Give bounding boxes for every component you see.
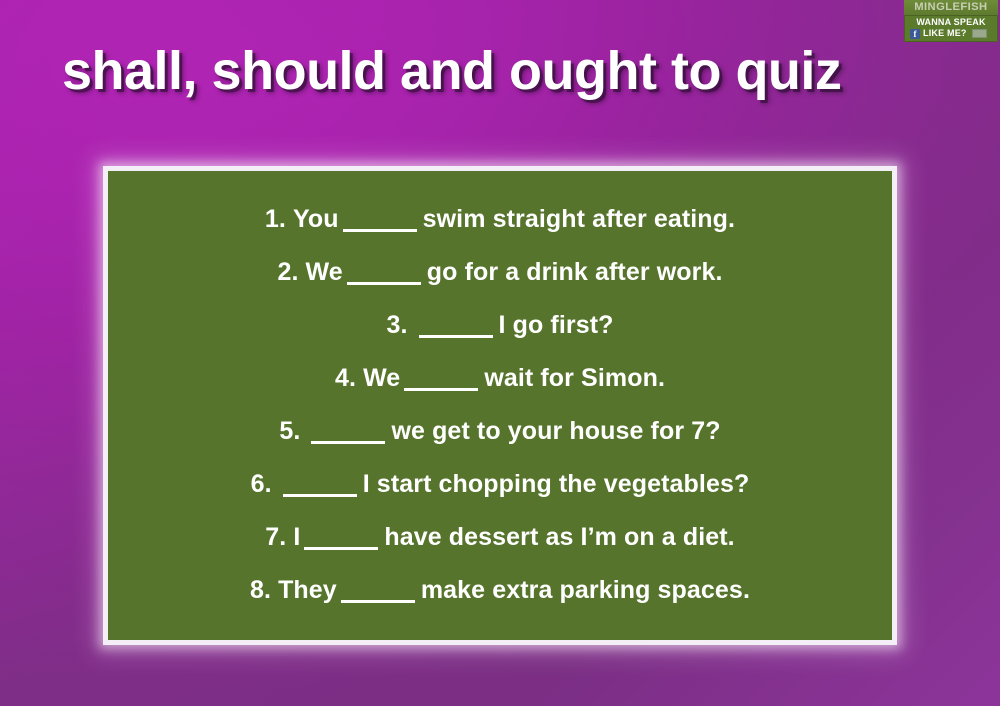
answer-blank[interactable] (341, 580, 415, 603)
quiz-panel: 1.Youswim straight after eating. 2.Wego … (103, 166, 897, 645)
answer-blank[interactable] (347, 262, 421, 285)
question-text-after: make extra parking spaces. (421, 576, 750, 604)
question-text-after: have dessert as I’m on a diet. (384, 523, 734, 551)
quiz-question-1: 1.Youswim straight after eating. (108, 193, 892, 246)
logo-cta-line2: LIKE ME? (923, 28, 967, 39)
question-text-before: We (363, 364, 400, 392)
quiz-question-8: 8.Theymake extra parking spaces. (108, 564, 892, 617)
question-text-after: swim straight after eating. (423, 205, 736, 233)
quiz-question-5: 5.we get to your house for 7? (108, 405, 892, 458)
question-text-after: wait for Simon. (484, 364, 665, 392)
question-number: 8. (250, 576, 271, 604)
question-number: 1. (265, 205, 286, 233)
question-number: 2. (277, 258, 298, 286)
answer-blank[interactable] (283, 474, 357, 497)
quiz-question-6: 6.I start chopping the vegetables? (108, 458, 892, 511)
question-number: 4. (335, 364, 356, 392)
question-number: 6. (251, 470, 272, 498)
page-title: shall, should and ought to quiz (62, 40, 841, 102)
slide-canvas: MINGLEFISH WANNA SPEAK f LIKE ME? shall,… (0, 0, 1000, 706)
logo-cta-box: WANNA SPEAK f LIKE ME? (904, 15, 998, 42)
question-text-before: We (306, 258, 343, 286)
answer-blank[interactable] (419, 315, 493, 338)
question-text-before: They (278, 576, 337, 604)
answer-blank[interactable] (311, 421, 385, 444)
logo-cta-line2-row: f LIKE ME? (907, 28, 995, 39)
question-text-after: I go first? (499, 311, 614, 339)
question-text-after: we get to your house for 7? (391, 417, 720, 445)
question-text-before: I (293, 523, 300, 551)
minglefish-watermark-logo: MINGLEFISH WANNA SPEAK f LIKE ME? (904, 0, 998, 42)
question-text-after: I start chopping the vegetables? (363, 470, 750, 498)
quiz-question-4: 4.Wewait for Simon. (108, 352, 892, 405)
question-number: 3. (386, 311, 407, 339)
logo-brand-bar: MINGLEFISH (904, 0, 998, 15)
facebook-icon[interactable]: f (910, 29, 920, 39)
logo-chip-icon (972, 29, 987, 38)
quiz-question-7: 7.Ihave dessert as I’m on a diet. (108, 511, 892, 564)
answer-blank[interactable] (343, 209, 417, 232)
logo-brand-text: MINGLEFISH (914, 2, 987, 13)
question-text-after: go for a drink after work. (427, 258, 723, 286)
answer-blank[interactable] (404, 368, 478, 391)
question-text-before: You (293, 205, 339, 233)
quiz-question-3: 3.I go first? (108, 299, 892, 352)
quiz-question-2: 2.Wego for a drink after work. (108, 246, 892, 299)
logo-cta-line1: WANNA SPEAK (907, 17, 995, 28)
question-number: 5. (279, 417, 300, 445)
answer-blank[interactable] (304, 527, 378, 550)
question-number: 7. (265, 523, 286, 551)
